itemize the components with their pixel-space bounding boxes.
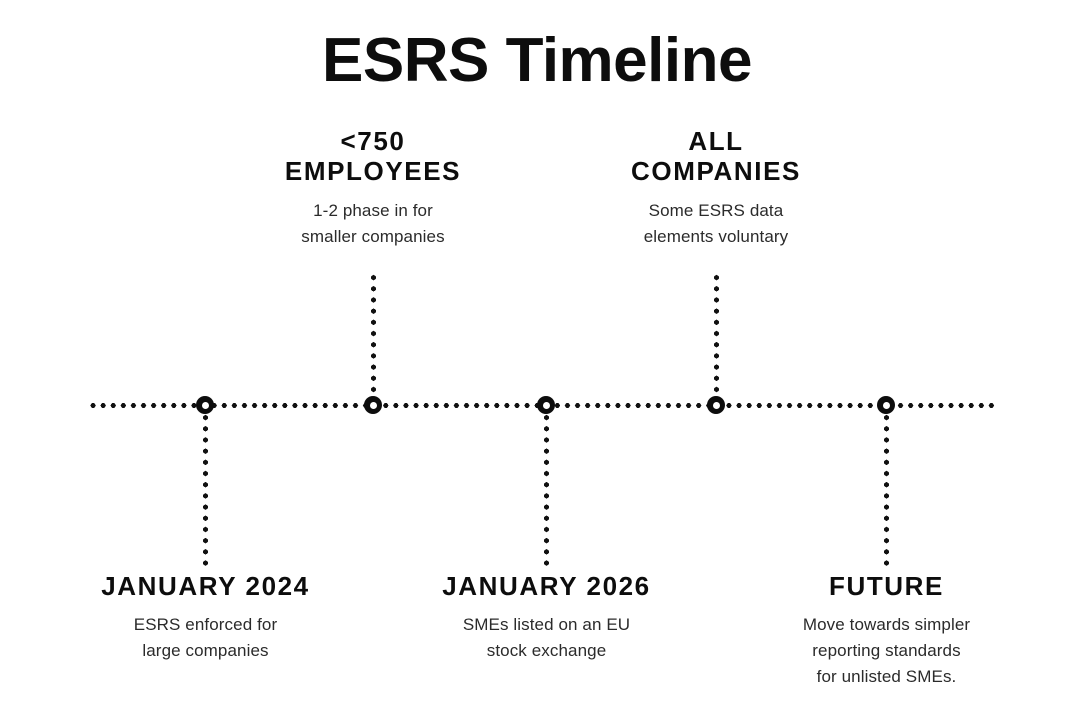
timeline-node-january-2026[interactable] xyxy=(537,396,555,414)
milestone-heading: JANUARY 2024 xyxy=(63,571,348,601)
milestone-label-january-2024: JANUARY 2024 ESRS enforced for large com… xyxy=(63,571,348,664)
timeline-node-january-2024[interactable] xyxy=(196,396,214,414)
heading-line: ALL xyxy=(688,126,743,156)
connector-under-750-employees xyxy=(371,272,376,404)
description-line: SMEs listed on an EU xyxy=(463,615,630,634)
connector-january-2026 xyxy=(544,412,549,570)
description-line: stock exchange xyxy=(487,641,607,660)
milestone-description: 1-2 phase in for smaller companies xyxy=(233,198,513,250)
milestone-description: Move towards simpler reporting standards… xyxy=(744,612,1029,689)
connector-all-companies xyxy=(714,272,719,404)
heading-line: <750 xyxy=(341,126,406,156)
milestone-description: ESRS enforced for large companies xyxy=(63,612,348,664)
milestone-label-under-750-employees: <750 EMPLOYEES 1-2 phase in for smaller … xyxy=(233,126,513,250)
milestone-heading: ALL COMPANIES xyxy=(576,126,856,186)
milestone-label-future: FUTURE Move towards simpler reporting st… xyxy=(744,571,1029,690)
description-line: large companies xyxy=(142,641,268,660)
description-line: Move towards simpler xyxy=(803,615,970,634)
milestone-heading: <750 EMPLOYEES xyxy=(233,126,513,186)
milestone-label-january-2026: JANUARY 2026 SMEs listed on an EU stock … xyxy=(404,571,689,664)
timeline-node-future[interactable] xyxy=(877,396,895,414)
page-title: ESRS Timeline xyxy=(0,28,1074,93)
milestone-description: SMEs listed on an EU stock exchange xyxy=(404,612,689,664)
description-line: elements voluntary xyxy=(644,227,788,246)
connector-january-2024 xyxy=(203,412,208,570)
description-line: ESRS enforced for xyxy=(134,615,277,634)
description-line: for unlisted SMEs. xyxy=(817,667,957,686)
description-line: reporting standards xyxy=(812,641,960,660)
timeline-node-under-750-employees[interactable] xyxy=(364,396,382,414)
heading-line: EMPLOYEES xyxy=(285,156,461,186)
description-line: 1-2 phase in for xyxy=(313,201,433,220)
heading-line: COMPANIES xyxy=(631,156,801,186)
description-line: smaller companies xyxy=(301,227,444,246)
timeline-node-all-companies[interactable] xyxy=(707,396,725,414)
milestone-label-all-companies: ALL COMPANIES Some ESRS data elements vo… xyxy=(576,126,856,250)
milestone-heading: FUTURE xyxy=(744,571,1029,601)
connector-future xyxy=(884,412,889,570)
milestone-heading: JANUARY 2026 xyxy=(404,571,689,601)
description-line: Some ESRS data xyxy=(649,201,784,220)
timeline-canvas: ESRS Timeline <750 EMPLOYEES 1-2 phase i… xyxy=(0,0,1074,714)
milestone-description: Some ESRS data elements voluntary xyxy=(576,198,856,250)
